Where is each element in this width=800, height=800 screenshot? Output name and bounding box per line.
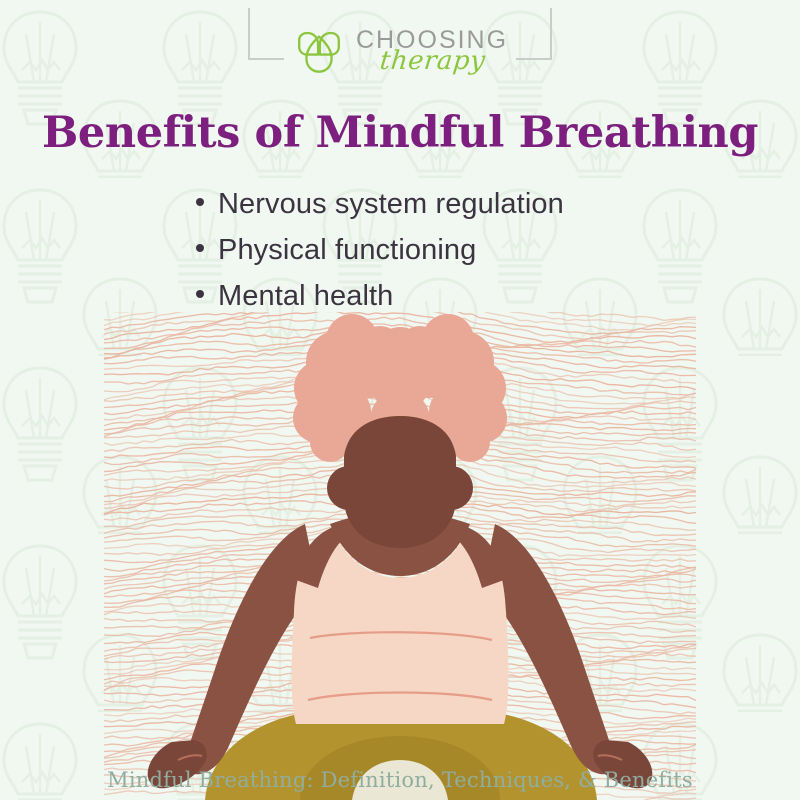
meditating-woman-illustration bbox=[0, 312, 800, 800]
list-item-label: Nervous system regulation bbox=[218, 182, 564, 228]
list-item-label: Physical functioning bbox=[218, 228, 476, 274]
bullet-dot-icon bbox=[196, 198, 204, 206]
list-item: Nervous system regulation bbox=[196, 182, 564, 228]
brand-logo: CHOOSING therapy bbox=[0, 16, 800, 86]
poster-canvas: CHOOSING therapy Benefits of Mindful Bre… bbox=[0, 0, 800, 800]
bullet-dot-icon bbox=[196, 290, 204, 298]
benefits-list: Nervous system regulation Physical funct… bbox=[196, 182, 564, 319]
list-item: Physical functioning bbox=[196, 228, 564, 274]
list-item-label: Mental health bbox=[218, 274, 393, 320]
footer-caption: Mindful Breathing: Definition, Technique… bbox=[0, 768, 800, 792]
leaf-trio-icon bbox=[292, 24, 346, 78]
logo-wordmark-secondary: therapy bbox=[379, 48, 487, 74]
bullet-dot-icon bbox=[196, 244, 204, 252]
list-item: Mental health bbox=[196, 274, 564, 320]
page-title: Benefits of Mindful Breathing bbox=[0, 108, 800, 158]
